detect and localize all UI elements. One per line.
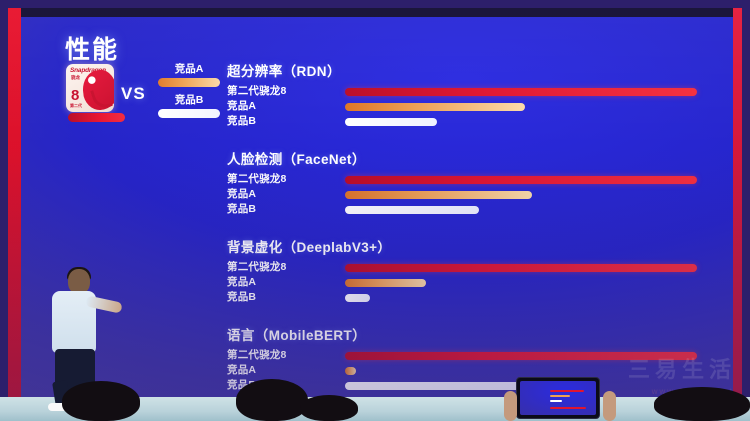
benchmark-group-title: 人脸检测（FaceNet） [227, 148, 697, 168]
benchmark-bar-row: 第二代骁龙8 [227, 348, 697, 363]
benchmark-bar-row: 竞品A [227, 275, 697, 290]
legend-bar-b [158, 109, 220, 118]
benchmark-bar-label: 竞品A [227, 275, 345, 290]
benchmark-group: 背景虚化（DeeplabV3+）第二代骁龙8竞品A竞品B [227, 236, 697, 305]
benchmark-bar [345, 294, 370, 302]
benchmark-bar [345, 264, 697, 272]
benchmark-bar-row: 竞品A [227, 363, 697, 378]
watermark: 三易生活 [628, 352, 736, 384]
phone-screen [520, 381, 596, 415]
benchmark-bar-label: 竞品B [227, 202, 345, 217]
benchmark-group-title: 超分辨率（RDN） [227, 60, 697, 80]
benchmark-bar-label: 竞品B [227, 290, 345, 305]
benchmark-bar [345, 279, 426, 287]
legend-label-a: 竞品A [158, 62, 220, 76]
screen-right-red-edge [733, 8, 742, 408]
benchmark-bar-row: 竞品A [227, 99, 697, 114]
audience-head [236, 379, 308, 421]
benchmark-bar-row: 竞品A [227, 187, 697, 202]
benchmark-bar [345, 191, 532, 199]
screen-left-red-edge [8, 8, 21, 408]
benchmark-bar [345, 103, 525, 111]
led-presentation-screen: 性能 Snapdragon 骁龙 8 第二代 VS 竞品A 竞品B 超分辨率（R… [8, 8, 742, 408]
benchmark-bar-row: 第二代骁龙8 [227, 172, 697, 187]
chip-generation-label: 第二代 [70, 103, 82, 109]
audience-head [62, 381, 140, 421]
legend-bar-snapdragon [68, 113, 125, 122]
benchmark-bar-track [345, 187, 697, 202]
benchmark-bar [345, 206, 479, 214]
presentation-photo: 性能 Snapdragon 骁龙 8 第二代 VS 竞品A 竞品B 超分辨率（R… [0, 0, 750, 421]
benchmark-bar [345, 367, 356, 375]
benchmark-bar-track [345, 172, 697, 187]
benchmark-group: 语言（MobileBERT）第二代骁龙8竞品A竞品B [227, 324, 697, 393]
benchmark-bar-label: 第二代骁龙8 [227, 348, 345, 363]
benchmark-bar [345, 176, 697, 184]
phone-device [516, 377, 600, 419]
benchmark-bar-track [345, 260, 697, 275]
chip-number-label: 8 [71, 88, 79, 103]
snapdragon-chip-icon: Snapdragon 骁龙 8 第二代 [66, 64, 114, 112]
benchmark-bar-row: 第二代骁龙8 [227, 260, 697, 275]
benchmark-bar-row: 竞品B [227, 290, 697, 305]
benchmark-bar-label: 第二代骁龙8 [227, 260, 345, 275]
benchmark-bar-label: 竞品A [227, 99, 345, 114]
benchmark-bar-label: 竞品B [227, 114, 345, 129]
audience-head [654, 387, 750, 421]
benchmark-bar-label: 第二代骁龙8 [227, 84, 345, 99]
benchmark-bar-track [345, 114, 697, 129]
benchmark-bar-label: 第二代骁龙8 [227, 172, 345, 187]
benchmark-bar [345, 88, 697, 96]
legend-label-b: 竞品B [158, 93, 220, 107]
benchmark-bar-track [345, 202, 697, 217]
benchmark-bar-label: 竞品A [227, 187, 345, 202]
page-title: 性能 [65, 30, 119, 66]
benchmark-group: 人脸检测（FaceNet）第二代骁龙8竞品A竞品B [227, 148, 697, 217]
benchmark-bar [345, 118, 437, 126]
legend: Snapdragon 骁龙 8 第二代 VS 竞品A 竞品B [60, 62, 220, 142]
benchmark-bar-track [345, 84, 697, 99]
benchmark-group-title: 语言（MobileBERT） [227, 324, 697, 344]
benchmark-bar-row: 竞品B [227, 114, 697, 129]
legend-bar-a [158, 78, 220, 87]
vs-label: VS [121, 84, 146, 104]
benchmark-group: 超分辨率（RDN）第二代骁龙8竞品A竞品B [227, 60, 697, 129]
benchmark-bar-row: 竞品B [227, 202, 697, 217]
legend-competitors: 竞品A 竞品B [158, 62, 220, 124]
finger [603, 391, 616, 421]
screen-top-band [8, 8, 742, 17]
benchmark-bar-track [345, 275, 697, 290]
benchmark-bar-row: 第二代骁龙8 [227, 84, 697, 99]
benchmark-bar-label: 竞品A [227, 363, 345, 378]
chip-brand-cn-label: 骁龙 [71, 75, 80, 81]
audience-phone-recording [502, 373, 622, 421]
benchmark-group-title: 背景虚化（DeeplabV3+） [227, 236, 697, 256]
benchmark-bar-track [345, 290, 697, 305]
audience-head [300, 395, 358, 421]
finger [504, 391, 517, 421]
benchmark-bar-track [345, 99, 697, 114]
